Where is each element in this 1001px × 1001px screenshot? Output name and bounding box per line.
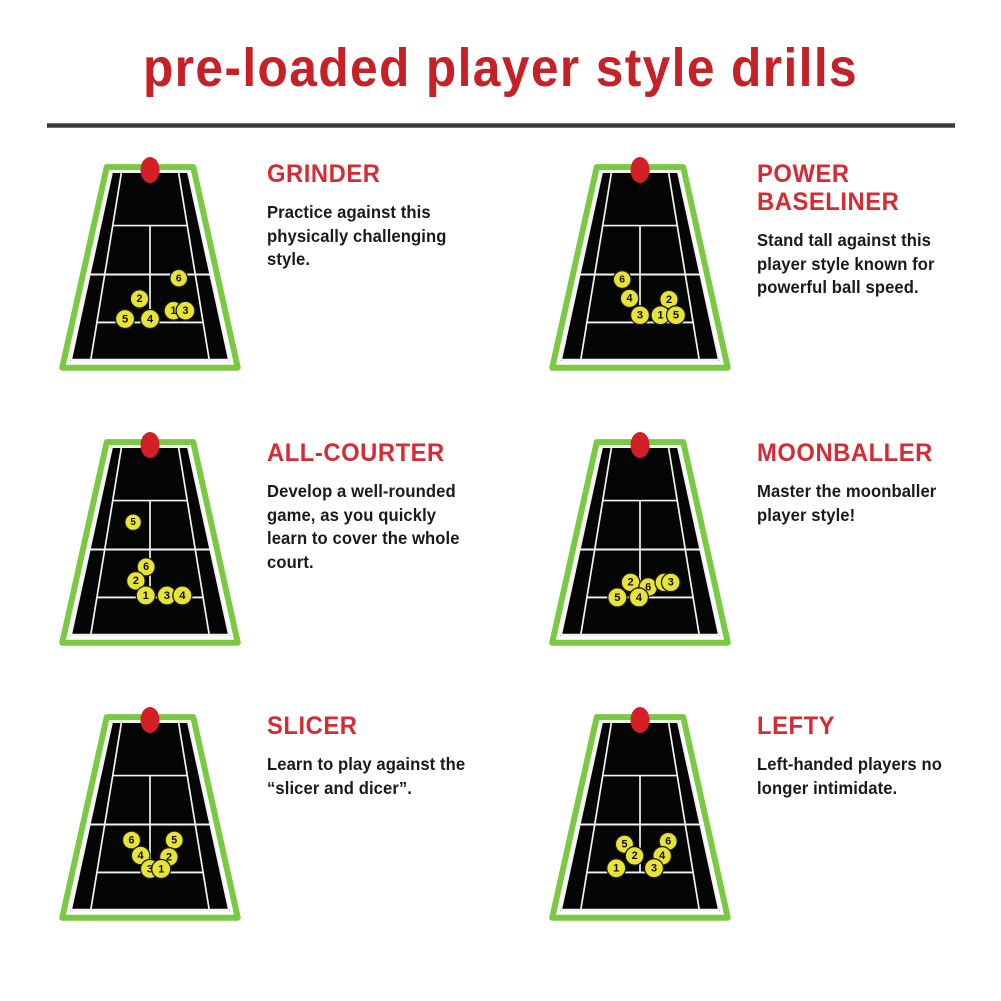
ball-number: 2 xyxy=(632,850,638,862)
ball-number: 6 xyxy=(143,561,149,573)
panel-text: ALL-COURTER Develop a well-rounded game,… xyxy=(245,425,490,575)
tennis-court-diagram: 261354 xyxy=(545,425,735,655)
drill-panel-power-baseliner[interactable]: 642315 POWER BASELINER Stand tall agains… xyxy=(490,150,980,425)
ball-1: 1 xyxy=(136,586,155,605)
ball-number: 6 xyxy=(129,834,135,846)
drill-panel-grinder[interactable]: 621354 GRINDER Practice against this phy… xyxy=(0,150,490,425)
ball-number: 6 xyxy=(665,836,671,848)
ball-3: 3 xyxy=(661,573,680,592)
ball-6: 6 xyxy=(613,271,631,289)
ball-1: 1 xyxy=(152,860,171,879)
ball-number: 3 xyxy=(668,577,674,589)
ball-3: 3 xyxy=(644,859,663,878)
tennis-court-diagram: 562413 xyxy=(545,700,735,930)
ball-number: 5 xyxy=(622,838,628,850)
panel-body: Stand tall against this player style kno… xyxy=(757,229,969,300)
ball-number: 5 xyxy=(171,834,177,846)
court-grinder: 621354 xyxy=(62,157,238,368)
panel-heading: MOONBALLER xyxy=(757,439,969,467)
court-slicer: 654231 xyxy=(62,707,238,918)
panel-text: SLICER Learn to play against the “slicer… xyxy=(245,700,490,800)
red-oval-marker xyxy=(631,157,650,183)
drill-panel-all-courter[interactable]: 562134 ALL-COURTER Develop a well-rounde… xyxy=(0,425,490,700)
panel-body: Master the moonballer player style! xyxy=(757,480,969,527)
panel-text: LEFTY Left-handed players no longer inti… xyxy=(735,700,980,800)
ball-number: 2 xyxy=(666,294,672,306)
ball-3: 3 xyxy=(631,306,650,325)
ball-5: 5 xyxy=(667,306,686,325)
ball-4: 4 xyxy=(140,310,159,329)
ball-number: 2 xyxy=(627,577,633,589)
ball-number: 1 xyxy=(143,590,149,602)
court-svg: 642315 xyxy=(545,150,735,380)
ball-number: 4 xyxy=(179,590,186,602)
ball-number: 3 xyxy=(164,590,170,602)
ball-2: 2 xyxy=(625,847,644,866)
ball-5: 5 xyxy=(125,514,142,531)
court-svg: 261354 xyxy=(545,425,735,655)
drills-grid: 621354 GRINDER Practice against this phy… xyxy=(0,150,1001,975)
panel-text: MOONBALLER Master the moonballer player … xyxy=(735,425,980,527)
red-oval-marker xyxy=(631,432,650,458)
tennis-court-diagram: 642315 xyxy=(545,150,735,380)
panel-body: Left-handed players no longer intimidate… xyxy=(757,753,969,800)
ball-number: 3 xyxy=(651,863,657,875)
court-svg: 621354 xyxy=(55,150,245,380)
panel-heading: POWER BASELINER xyxy=(757,160,969,216)
ball-5: 5 xyxy=(608,588,627,607)
ball-2: 2 xyxy=(130,290,148,308)
court-svg: 562413 xyxy=(545,700,735,930)
ball-5: 5 xyxy=(116,310,135,329)
panel-heading: LEFTY xyxy=(757,712,969,740)
ball-number: 3 xyxy=(637,310,643,322)
court-lefty: 562413 xyxy=(552,707,728,918)
red-oval-marker xyxy=(141,432,160,458)
red-oval-marker xyxy=(141,157,160,183)
drill-panel-lefty[interactable]: 562413 LEFTY Left-handed players no long… xyxy=(490,700,980,975)
ball-number: 5 xyxy=(130,517,136,528)
red-oval-marker xyxy=(141,707,160,733)
tennis-court-diagram: 562134 xyxy=(55,425,245,655)
ball-3: 3 xyxy=(176,301,195,320)
ball-number: 2 xyxy=(136,293,142,305)
panel-heading: ALL-COURTER xyxy=(267,439,479,467)
ball-number: 5 xyxy=(614,592,620,604)
panel-body: Develop a well-rounded game, as you quic… xyxy=(267,480,479,575)
court-power-baseliner: 642315 xyxy=(552,157,728,368)
title-divider xyxy=(47,123,955,128)
red-oval-marker xyxy=(631,707,650,733)
ball-5: 5 xyxy=(165,831,183,849)
ball-number: 1 xyxy=(613,863,619,875)
court-moonballer: 261354 xyxy=(552,432,728,643)
panel-heading: GRINDER xyxy=(267,160,479,188)
panel-text: POWER BASELINER Stand tall against this … xyxy=(735,150,980,300)
ball-number: 4 xyxy=(636,592,643,604)
court-svg: 562134 xyxy=(55,425,245,655)
ball-number: 6 xyxy=(619,275,625,286)
panel-text: GRINDER Practice against this physically… xyxy=(245,150,490,272)
ball-6: 6 xyxy=(170,269,188,287)
ball-number: 2 xyxy=(133,575,139,587)
drill-panel-moonballer[interactable]: 261354 MOONBALLER Master the moonballer … xyxy=(490,425,980,700)
ball-number: 4 xyxy=(138,850,145,862)
tennis-court-diagram: 654231 xyxy=(55,700,245,930)
ball-number: 4 xyxy=(627,293,633,305)
ball-number: 6 xyxy=(176,273,182,284)
court-svg: 654231 xyxy=(55,700,245,930)
panel-body: Learn to play against the “slicer and di… xyxy=(267,753,479,800)
ball-4: 4 xyxy=(629,588,648,607)
drill-panel-slicer[interactable]: 654231 SLICER Learn to play against the … xyxy=(0,700,490,975)
ball-number: 1 xyxy=(657,310,663,322)
ball-number: 5 xyxy=(122,313,128,325)
ball-number: 5 xyxy=(673,310,679,322)
ball-number: 4 xyxy=(147,313,154,325)
ball-1: 1 xyxy=(607,859,626,878)
page-title: pre-loaded player style drills xyxy=(40,0,961,97)
court-all-courter: 562134 xyxy=(62,432,238,643)
ball-4: 4 xyxy=(173,586,192,605)
ball-number: 3 xyxy=(182,305,188,317)
ball-4: 4 xyxy=(620,289,638,307)
panel-body: Practice against this physically challen… xyxy=(267,201,479,272)
panel-heading: SLICER xyxy=(267,712,479,740)
ball-number: 1 xyxy=(158,863,164,875)
tennis-court-diagram: 621354 xyxy=(55,150,245,380)
